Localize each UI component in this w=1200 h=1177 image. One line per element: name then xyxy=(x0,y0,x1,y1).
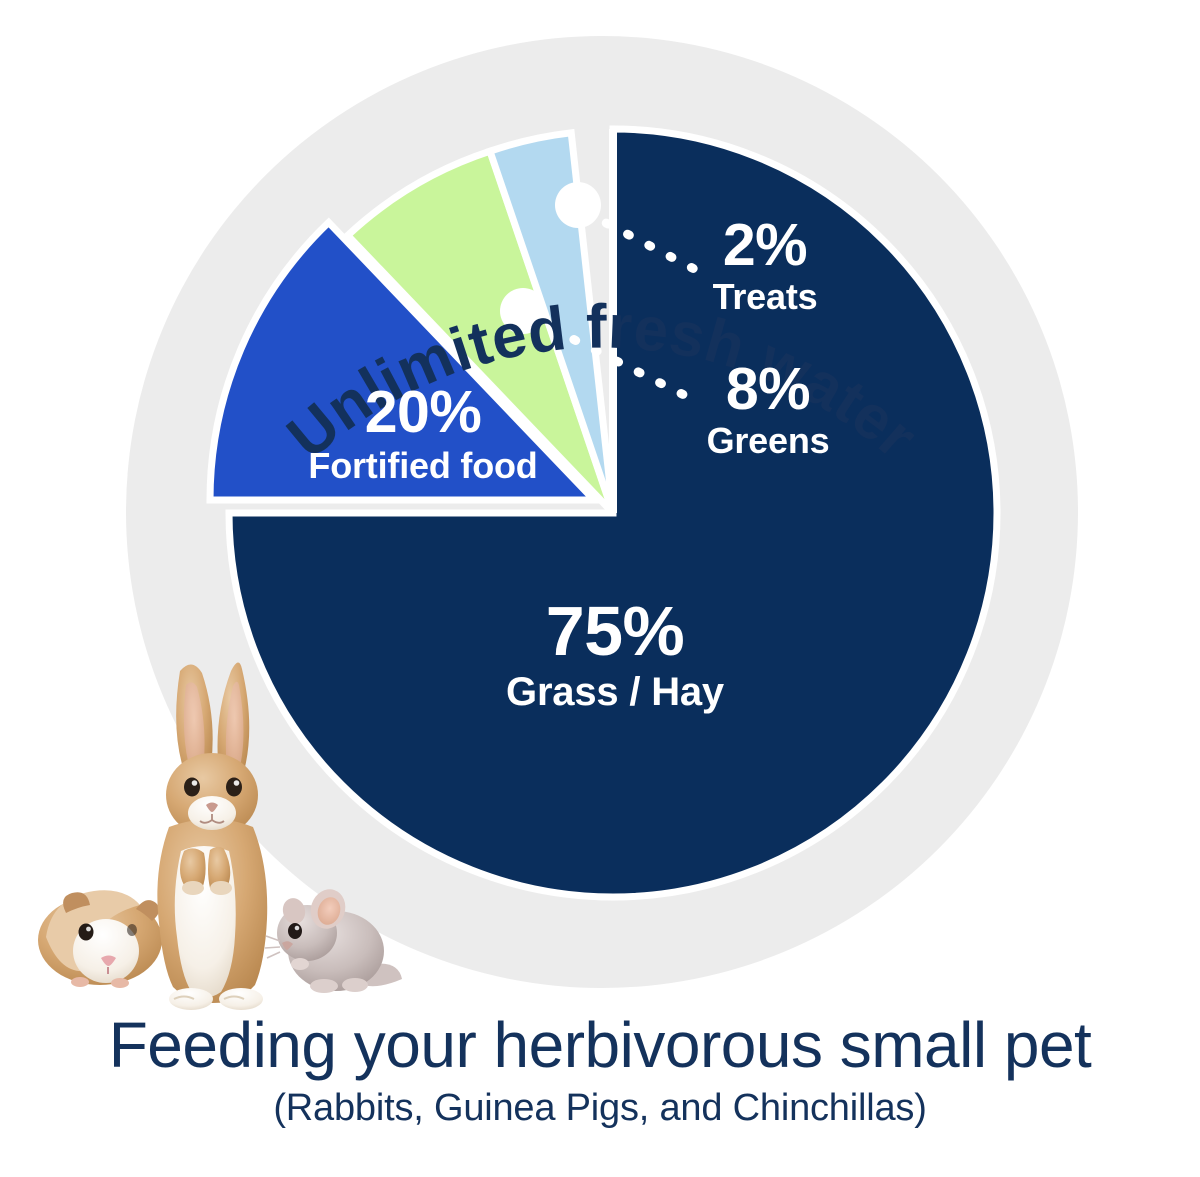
page-title: Feeding your herbivorous small pet xyxy=(0,1012,1200,1079)
caption-block: Feeding your herbivorous small pet (Rabb… xyxy=(0,1012,1200,1130)
rabbit-photo xyxy=(157,662,267,1010)
callout-dot-icon xyxy=(555,182,601,228)
animal-photo-group xyxy=(28,655,408,1010)
pie-chart-stage: Unlimited fresh water 75% Grass / Hay 20… xyxy=(0,0,1200,1010)
chinchilla-photo xyxy=(265,885,402,993)
guinea-pig-photo xyxy=(38,890,162,988)
infographic-root: Unlimited fresh water 75% Grass / Hay 20… xyxy=(0,0,1200,1177)
page-subtitle: (Rabbits, Guinea Pigs, and Chinchillas) xyxy=(0,1087,1200,1130)
